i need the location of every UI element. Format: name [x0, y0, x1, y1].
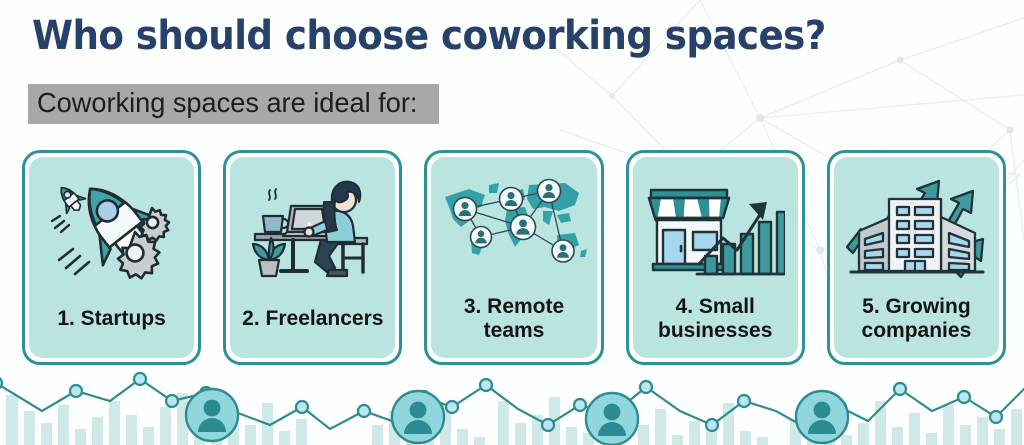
card-inner: 4. Small businesses	[633, 157, 798, 358]
storefront-growth-chart-icon	[640, 169, 790, 285]
card-inner: 1. Startups	[29, 157, 194, 358]
card-label: 4. Small businesses	[633, 285, 798, 358]
card-label: 1. Startups	[51, 285, 172, 358]
infographic-canvas: Who should choose coworking spaces? Cowo…	[0, 0, 1024, 445]
card-label: 3. Remote teams	[431, 285, 596, 358]
card-inner: 5. Growing companies	[834, 157, 999, 358]
card-list: 1. Startups	[22, 150, 1006, 365]
rocket-gears-icon	[37, 169, 187, 285]
page-title: Who should choose coworking spaces?	[32, 13, 826, 59]
card-label: 5. Growing companies	[834, 285, 999, 358]
card-remote-teams[interactable]: 3. Remote teams	[424, 150, 603, 365]
card-inner: 3. Remote teams	[431, 157, 596, 358]
subtitle-text: Coworking spaces are ideal for:	[37, 89, 417, 117]
freelancer-laptop-icon	[238, 169, 388, 285]
footer-decoration	[0, 367, 1024, 445]
card-freelancers[interactable]: 2. Freelancers	[223, 150, 402, 365]
world-map-network-icon	[439, 169, 589, 285]
card-growing-companies[interactable]: 5. Growing companies	[827, 150, 1006, 365]
card-inner: 2. Freelancers	[230, 157, 395, 358]
card-label: 2. Freelancers	[236, 285, 389, 358]
card-startups[interactable]: 1. Startups	[22, 150, 201, 365]
subtitle-highlight: Coworking spaces are ideal for:	[28, 84, 439, 124]
office-buildings-arrows-icon	[841, 169, 991, 285]
card-small-businesses[interactable]: 4. Small businesses	[626, 150, 805, 365]
